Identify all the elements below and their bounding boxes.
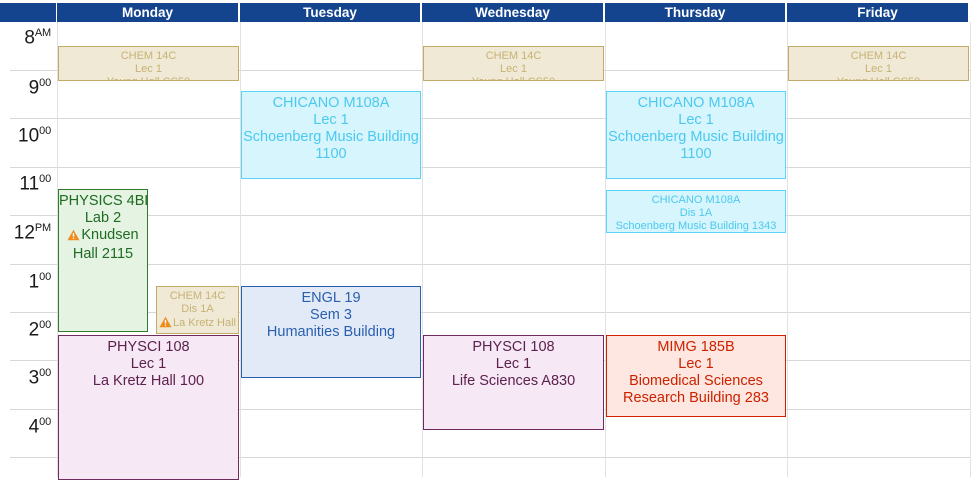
time-label-suffix: 00 bbox=[39, 319, 51, 331]
time-label-suffix: 00 bbox=[39, 367, 51, 379]
calendar-grid-body: 8AM9001000110012PM100200300400CHEM 14CLe… bbox=[0, 22, 980, 494]
event-block-thu-chicano-dis[interactable]: CHICANO M108ADis 1ASchoenberg Music Buil… bbox=[606, 190, 786, 233]
event-course: CHEM 14C bbox=[789, 50, 968, 63]
event-block-mon-physics4bl-lab[interactable]: PHYSICS 4BLLab 2KnudsenHall 2115 bbox=[58, 189, 148, 332]
event-location: Biomedical Sciences bbox=[629, 373, 763, 389]
event-section: Lec 1 bbox=[424, 356, 603, 373]
time-label-900: 900 bbox=[0, 77, 51, 99]
event-location-line: Life Sciences A830 bbox=[424, 373, 603, 390]
time-label-suffix: 00 bbox=[39, 77, 51, 89]
event-section: Dis 1A bbox=[607, 207, 785, 220]
event-location: La Kretz Hall 100 bbox=[93, 373, 204, 389]
event-block-mon-physci108-lec[interactable]: PHYSCI 108Lec 1La Kretz Hall 100 bbox=[58, 335, 239, 480]
event-location: Knudsen bbox=[81, 227, 138, 243]
time-label-100: 100 bbox=[0, 271, 51, 293]
event-section: Lec 1 bbox=[607, 112, 785, 129]
time-label-400: 400 bbox=[0, 416, 51, 438]
event-section: Lec 1 bbox=[59, 356, 238, 373]
event-course: CHEM 14C bbox=[424, 50, 603, 63]
day-header-friday[interactable]: Friday bbox=[787, 3, 970, 22]
event-block-tue-chicano-lec[interactable]: CHICANO M108ALec 1Schoenberg Music Build… bbox=[241, 91, 421, 179]
event-location: Schoenberg Music Building bbox=[243, 129, 419, 145]
event-block-mon-chem14c-lec[interactable]: CHEM 14CLec 1Young Hall CS50 bbox=[58, 46, 239, 81]
event-location: Young Hall CS50 bbox=[107, 76, 190, 81]
time-label-hour: 1 bbox=[29, 271, 40, 292]
event-location: Life Sciences A830 bbox=[452, 373, 575, 389]
event-location-line: Humanities Building bbox=[242, 324, 420, 341]
time-label-12pm: 12PM bbox=[0, 222, 51, 244]
time-label-suffix: 00 bbox=[39, 125, 51, 137]
time-label-suffix: PM bbox=[35, 222, 51, 234]
hour-gridline bbox=[10, 118, 970, 119]
event-location: Schoenberg Music Building bbox=[608, 129, 784, 145]
event-course: PHYSCI 108 bbox=[59, 339, 238, 356]
warning-icon bbox=[67, 229, 80, 246]
time-label-hour: 12 bbox=[14, 222, 35, 243]
day-header-thursday[interactable]: Thursday bbox=[605, 3, 787, 22]
event-section: Lec 1 bbox=[424, 63, 603, 76]
event-location: Young Hall CS50 bbox=[837, 76, 920, 81]
event-location: Humanities Building bbox=[267, 324, 395, 340]
weekly-schedule-calendar: MondayTuesdayWednesdayThursdayFriday 8AM… bbox=[0, 0, 980, 494]
event-block-thu-mimg185b-lec[interactable]: MIMG 185BLec 1Biomedical SciencesResearc… bbox=[606, 335, 786, 417]
hour-gridline bbox=[10, 167, 970, 168]
event-location: Schoenberg Music Building 1343 bbox=[616, 220, 777, 232]
time-label-hour: 2 bbox=[29, 319, 40, 340]
time-label-suffix: AM bbox=[35, 27, 51, 39]
event-section: Lec 1 bbox=[789, 63, 968, 76]
event-course: CHEM 14C bbox=[157, 290, 238, 303]
time-label-hour: 3 bbox=[29, 367, 40, 388]
event-course: CHEM 14C bbox=[59, 50, 238, 63]
event-location: La Kretz Hall bbox=[173, 317, 236, 329]
event-location-line: La Kretz Hall 100 bbox=[59, 373, 238, 390]
event-location-line: Young Hall CS50 bbox=[789, 76, 968, 81]
event-location-line: Knudsen bbox=[59, 227, 147, 246]
event-course: CHICANO M108A bbox=[607, 194, 785, 207]
time-label-1100: 1100 bbox=[0, 173, 51, 195]
calendar-corner-cell bbox=[0, 3, 57, 22]
hour-gridline bbox=[10, 215, 970, 216]
time-label-1000: 1000 bbox=[0, 125, 51, 147]
hour-gridline bbox=[10, 312, 970, 313]
event-location2: 1100 bbox=[242, 146, 420, 163]
event-location-line: Schoenberg Music Building 1343 bbox=[607, 220, 785, 233]
time-label-hour: 8 bbox=[24, 27, 35, 48]
event-block-tue-engl19-sem[interactable]: ENGL 19Sem 3Humanities Building bbox=[241, 286, 421, 378]
event-course: CHICANO M108A bbox=[607, 95, 785, 112]
event-location: Young Hall CS50 bbox=[472, 76, 555, 81]
time-label-hour: 10 bbox=[18, 125, 39, 146]
event-location-line: Young Hall CS50 bbox=[59, 76, 238, 81]
event-course: PHYSICS 4BL bbox=[59, 193, 147, 210]
hour-gridline bbox=[10, 264, 970, 265]
event-block-wed-physci108-lec[interactable]: PHYSCI 108Lec 1Life Sciences A830 bbox=[423, 335, 604, 430]
event-location2: Hall 2115 bbox=[59, 246, 147, 263]
time-label-8am: 8AM bbox=[0, 27, 51, 49]
event-location-line: La Kretz Hall bbox=[157, 316, 238, 332]
event-course: PHYSCI 108 bbox=[424, 339, 603, 356]
time-label-hour: 4 bbox=[29, 416, 40, 437]
column-divider bbox=[970, 22, 971, 477]
calendar-header-row: MondayTuesdayWednesdayThursdayFriday bbox=[0, 0, 980, 22]
event-course: MIMG 185B bbox=[607, 339, 785, 356]
event-course: ENGL 19 bbox=[242, 290, 420, 307]
event-section: Lec 1 bbox=[607, 356, 785, 373]
time-label-suffix: 00 bbox=[39, 271, 51, 283]
day-header-tuesday[interactable]: Tuesday bbox=[240, 3, 422, 22]
event-location-line: Schoenberg Music Building bbox=[607, 129, 785, 146]
time-label-300: 300 bbox=[0, 367, 51, 389]
event-section: Dis 1A bbox=[157, 303, 238, 316]
time-label-suffix: 00 bbox=[39, 173, 51, 185]
day-header-monday[interactable]: Monday bbox=[57, 3, 240, 22]
event-location2: 1100 bbox=[607, 146, 785, 163]
column-divider bbox=[787, 22, 788, 477]
time-label-hour: 11 bbox=[19, 173, 39, 194]
time-label-suffix: 00 bbox=[39, 416, 51, 428]
event-location-line: Schoenberg Music Building bbox=[242, 129, 420, 146]
day-header-wednesday[interactable]: Wednesday bbox=[422, 3, 605, 22]
event-block-thu-chicano-lec[interactable]: CHICANO M108ALec 1Schoenberg Music Build… bbox=[606, 91, 786, 179]
event-location2: Research Building 283 bbox=[607, 390, 785, 407]
time-label-200: 200 bbox=[0, 319, 51, 341]
event-location-line: Biomedical Sciences bbox=[607, 373, 785, 390]
event-course: CHICANO M108A bbox=[242, 95, 420, 112]
event-section: Sem 3 bbox=[242, 307, 420, 324]
event-section: Lec 1 bbox=[242, 112, 420, 129]
event-section: Lec 1 bbox=[59, 63, 238, 76]
time-label-hour: 9 bbox=[29, 77, 40, 98]
event-location-line: Young Hall CS50 bbox=[424, 76, 603, 81]
event-block-mon-chem14c-dis[interactable]: CHEM 14CDis 1ALa Kretz Hall bbox=[156, 286, 239, 334]
event-section: Lab 2 bbox=[59, 210, 147, 227]
event-block-fri-chem14c-lec[interactable]: CHEM 14CLec 1Young Hall CS50 bbox=[788, 46, 969, 81]
warning-icon bbox=[159, 316, 172, 332]
event-block-wed-chem14c-lec[interactable]: CHEM 14CLec 1Young Hall CS50 bbox=[423, 46, 604, 81]
